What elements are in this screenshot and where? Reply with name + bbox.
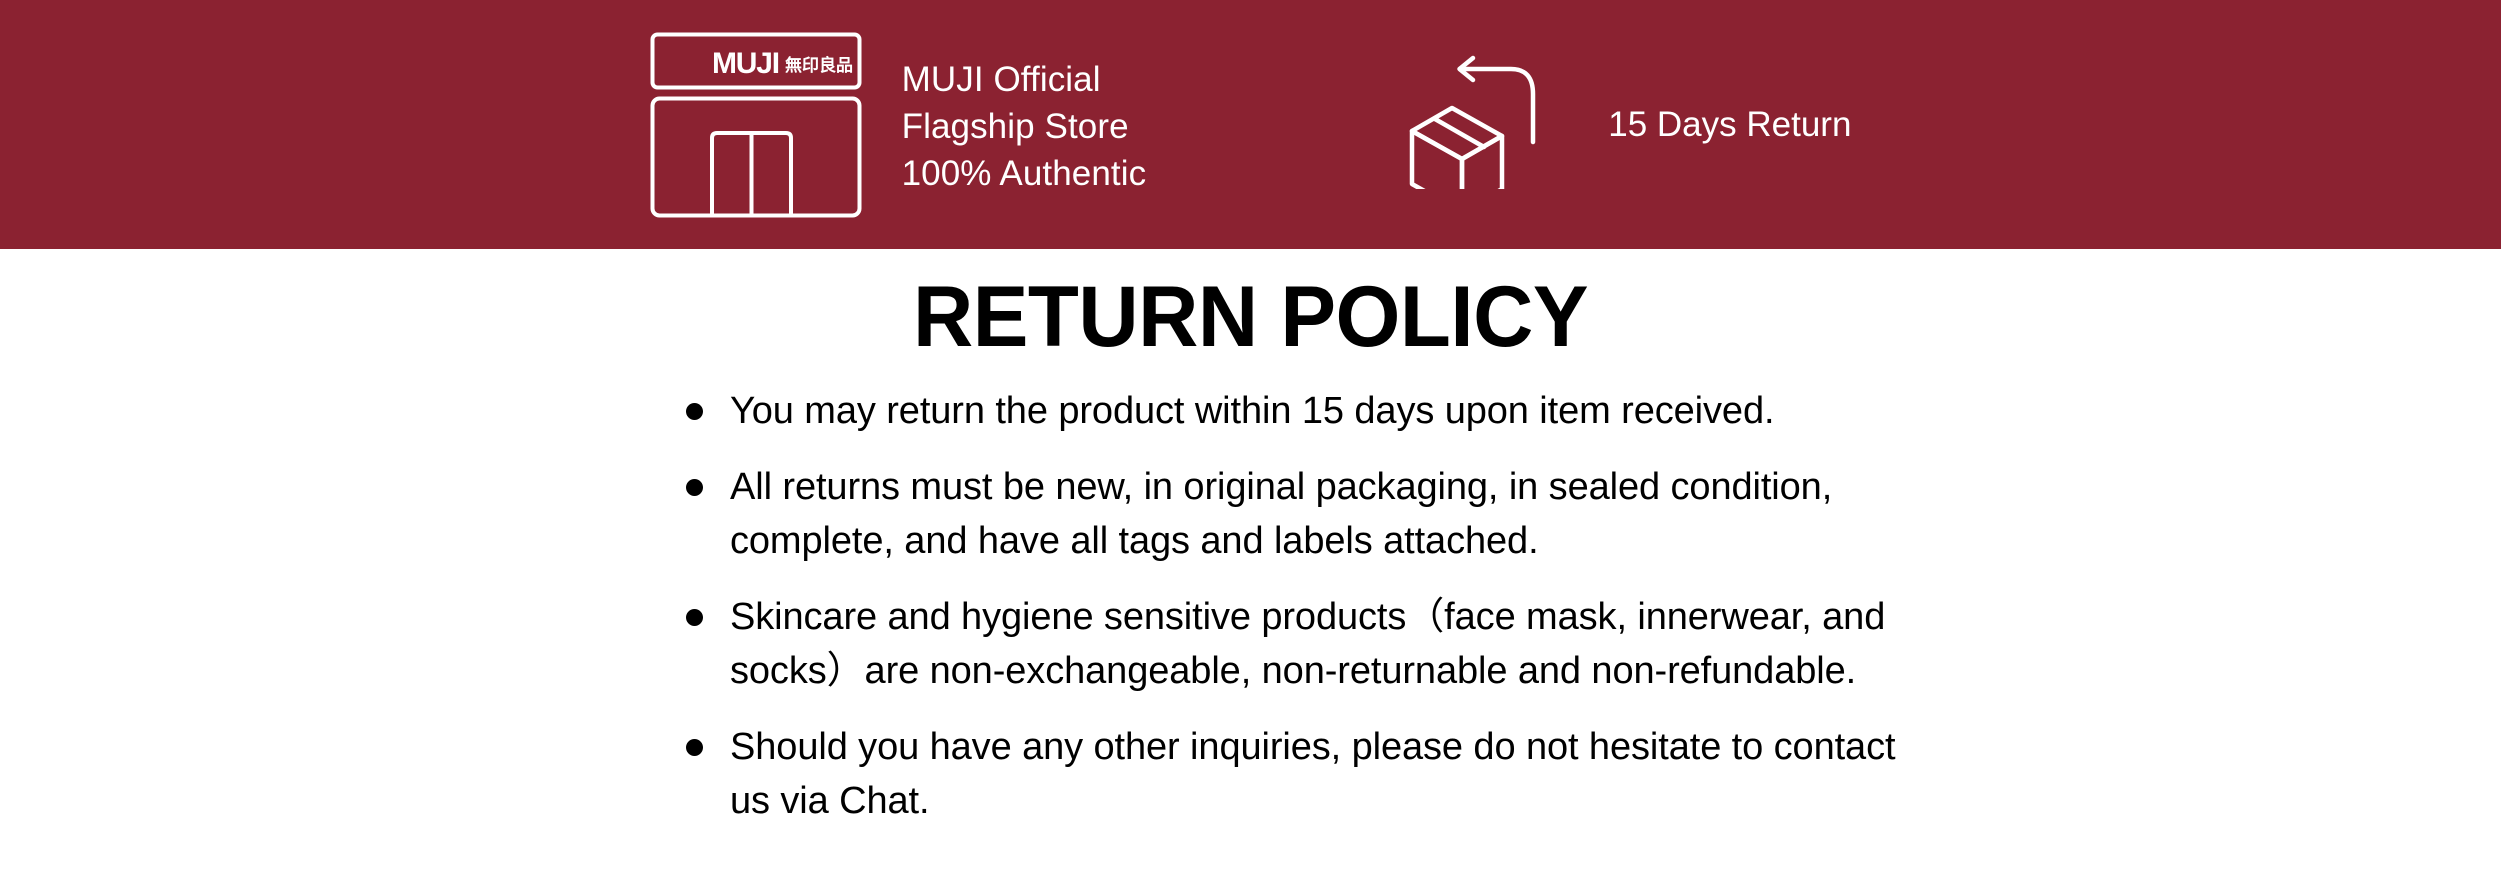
- bullet-icon: [686, 479, 703, 496]
- list-item: You may return the product within 15 day…: [683, 385, 1933, 439]
- store-sign-logo-jp: 無印良品: [785, 55, 853, 76]
- store-badge-line-1: MUJI Official: [902, 56, 1147, 103]
- store-badge-line-3: 100% Authentic: [902, 150, 1147, 197]
- bullet-icon: [686, 403, 703, 420]
- list-item-text: You may return the product within 15 day…: [730, 385, 1933, 439]
- return-badge-label: 15 Days Return: [1608, 104, 1851, 146]
- list-item-text: Skincare and hygiene sensitive products（…: [730, 591, 1933, 699]
- policy-list: You may return the product within 15 day…: [683, 362, 1933, 829]
- bullet-icon: [686, 739, 703, 756]
- store-sign-logo: MUJI: [712, 47, 779, 80]
- list-item: Skincare and hygiene sensitive products（…: [683, 591, 1933, 699]
- store-badge-text: MUJI Official Flagship Store 100% Authen…: [902, 56, 1147, 198]
- store-badge-line-2: Flagship Store: [902, 103, 1147, 150]
- policy-content: RETURN POLICY You may return the product…: [0, 249, 2501, 876]
- store-badge: MUJI 無印良品 MUJI Official Flagship Store 1…: [650, 32, 1147, 218]
- list-item: Should you have any other inquiries, ple…: [683, 721, 1933, 829]
- promo-banner: MUJI 無印良品 MUJI Official Flagship Store 1…: [0, 0, 2501, 249]
- return-box-icon: [1404, 49, 1572, 189]
- storefront-icon: MUJI 無印良品: [650, 32, 862, 218]
- list-item-text: All returns must be new, in original pac…: [730, 461, 1933, 569]
- banner-inner: MUJI 無印良品 MUJI Official Flagship Store 1…: [650, 0, 1852, 249]
- bullet-icon: [686, 609, 703, 626]
- return-badge: 15 Days Return: [1404, 55, 1851, 195]
- list-item: All returns must be new, in original pac…: [683, 461, 1933, 569]
- page-title: RETURN POLICY: [38, 272, 2464, 362]
- banner-spacer: [1146, 124, 1404, 125]
- list-item-text: Should you have any other inquiries, ple…: [730, 721, 1933, 829]
